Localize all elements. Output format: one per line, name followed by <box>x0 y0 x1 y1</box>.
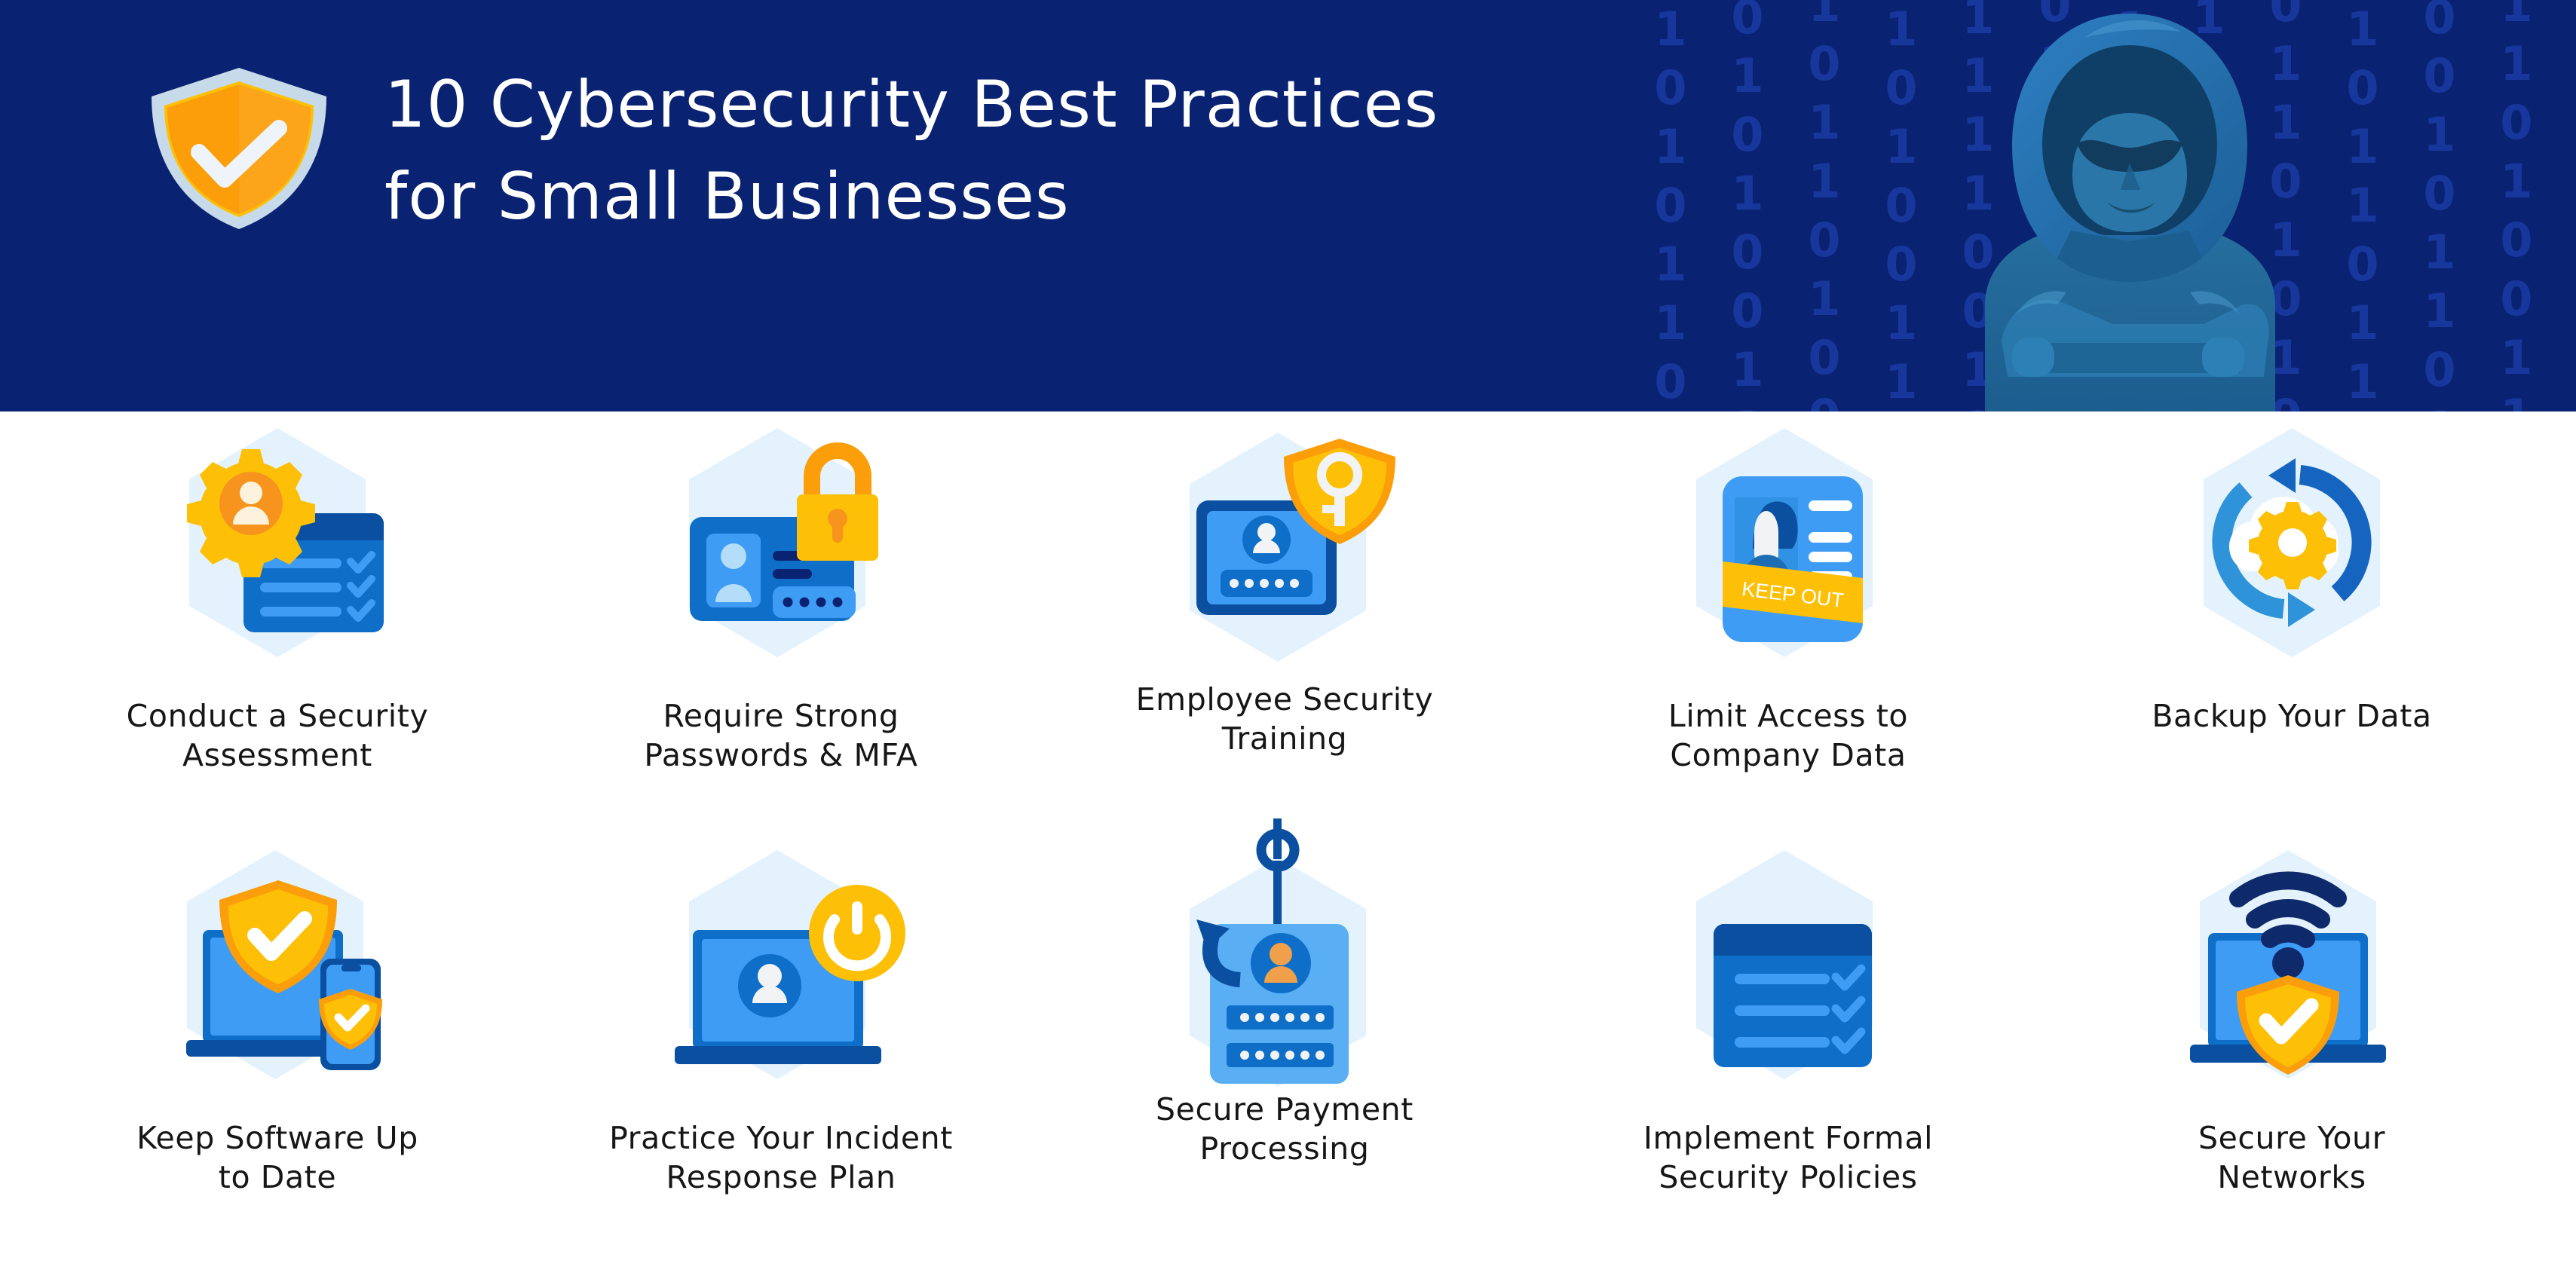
practice-card-1[interactable]: Conduct a Security Assessment <box>66 411 489 834</box>
practice-label-1: Conduct a Security Assessment <box>74 696 481 776</box>
header-banner: 1 0 1 0 1 1 0 1 0 10 1 0 1 0 0 1 1 1 01 … <box>0 0 2576 411</box>
practice-card-2[interactable]: Require Strong Passwords & MFA <box>570 411 992 834</box>
practice-label-9: Implement Formal Security Policies <box>1585 1118 1992 1198</box>
binary-column: 0 0 1 0 1 1 0 1 1 0 <box>2422 0 2457 411</box>
practice-label-3: Employee Security Training <box>1081 680 1488 759</box>
practice-card-7[interactable]: Practice Your Incident Response Plan <box>570 834 992 1256</box>
practice-label-10: Secure Your Networks <box>2088 1118 2495 1198</box>
practice-label-8: Secure Payment Processing <box>1081 1090 1488 1169</box>
practice-card-4[interactable]: KEEP OUT Limit Access to Company Data <box>1577 411 1999 834</box>
practices-grid: Conduct a Security Assessment <box>0 411 2576 1288</box>
practices-row-2: Keep Software Up to Date <box>0 834 2576 1256</box>
practice-card-10[interactable]: Secure Your Networks <box>2081 834 2503 1256</box>
infographic-page: 1 0 1 0 1 1 0 1 0 10 1 0 1 0 0 1 1 1 01 … <box>0 0 2576 1288</box>
header-title-block: 10 Cybersecurity Best Practices for Smal… <box>384 72 1817 229</box>
laptop-wifi-shield-icon <box>2145 841 2439 1112</box>
laptop-power-button-icon <box>634 841 928 1112</box>
practice-label-5: Backup Your Data <box>2088 696 2495 736</box>
page-title-line-1: 10 Cybersecurity Best Practices <box>384 72 1817 137</box>
checklist-window-icon <box>1641 841 1935 1112</box>
practice-label-2: Require Strong Passwords & MFA <box>577 696 985 776</box>
practice-card-5[interactable]: Backup Your Data <box>2081 411 2503 834</box>
binary-column: 1 1 0 1 0 0 1 1 0 1 <box>2499 0 2534 411</box>
shield-check-icon <box>143 65 335 232</box>
practice-label-7: Practice Your Incident Response Plan <box>577 1118 985 1198</box>
cloud-sync-gear-icon <box>2145 419 2439 690</box>
practice-card-3[interactable]: Employee Security Training <box>1074 411 1496 834</box>
gear-user-checklist-icon <box>130 419 424 690</box>
hooded-hacker-illustration <box>1887 0 2369 411</box>
practices-row-1: Conduct a Security Assessment <box>0 411 2576 834</box>
phishing-hook-login-icon <box>1138 812 1432 1084</box>
login-screen-key-shield-icon <box>1138 402 1432 674</box>
id-badge-keep-out-icon: KEEP OUT <box>1641 419 1935 690</box>
practice-card-9[interactable]: Implement Formal Security Policies <box>1577 834 1999 1256</box>
id-card-padlock-icon <box>634 419 928 690</box>
practice-card-6[interactable]: Keep Software Up to Date <box>66 834 489 1256</box>
laptop-phone-shields-icon <box>130 841 424 1112</box>
practice-card-8[interactable]: Secure Payment Processing <box>1074 834 1496 1256</box>
practice-label-4: Limit Access to Company Data <box>1585 696 1992 776</box>
page-title-line-2: for Small Businesses <box>384 164 1817 229</box>
practice-label-6: Keep Software Up to Date <box>74 1118 481 1198</box>
